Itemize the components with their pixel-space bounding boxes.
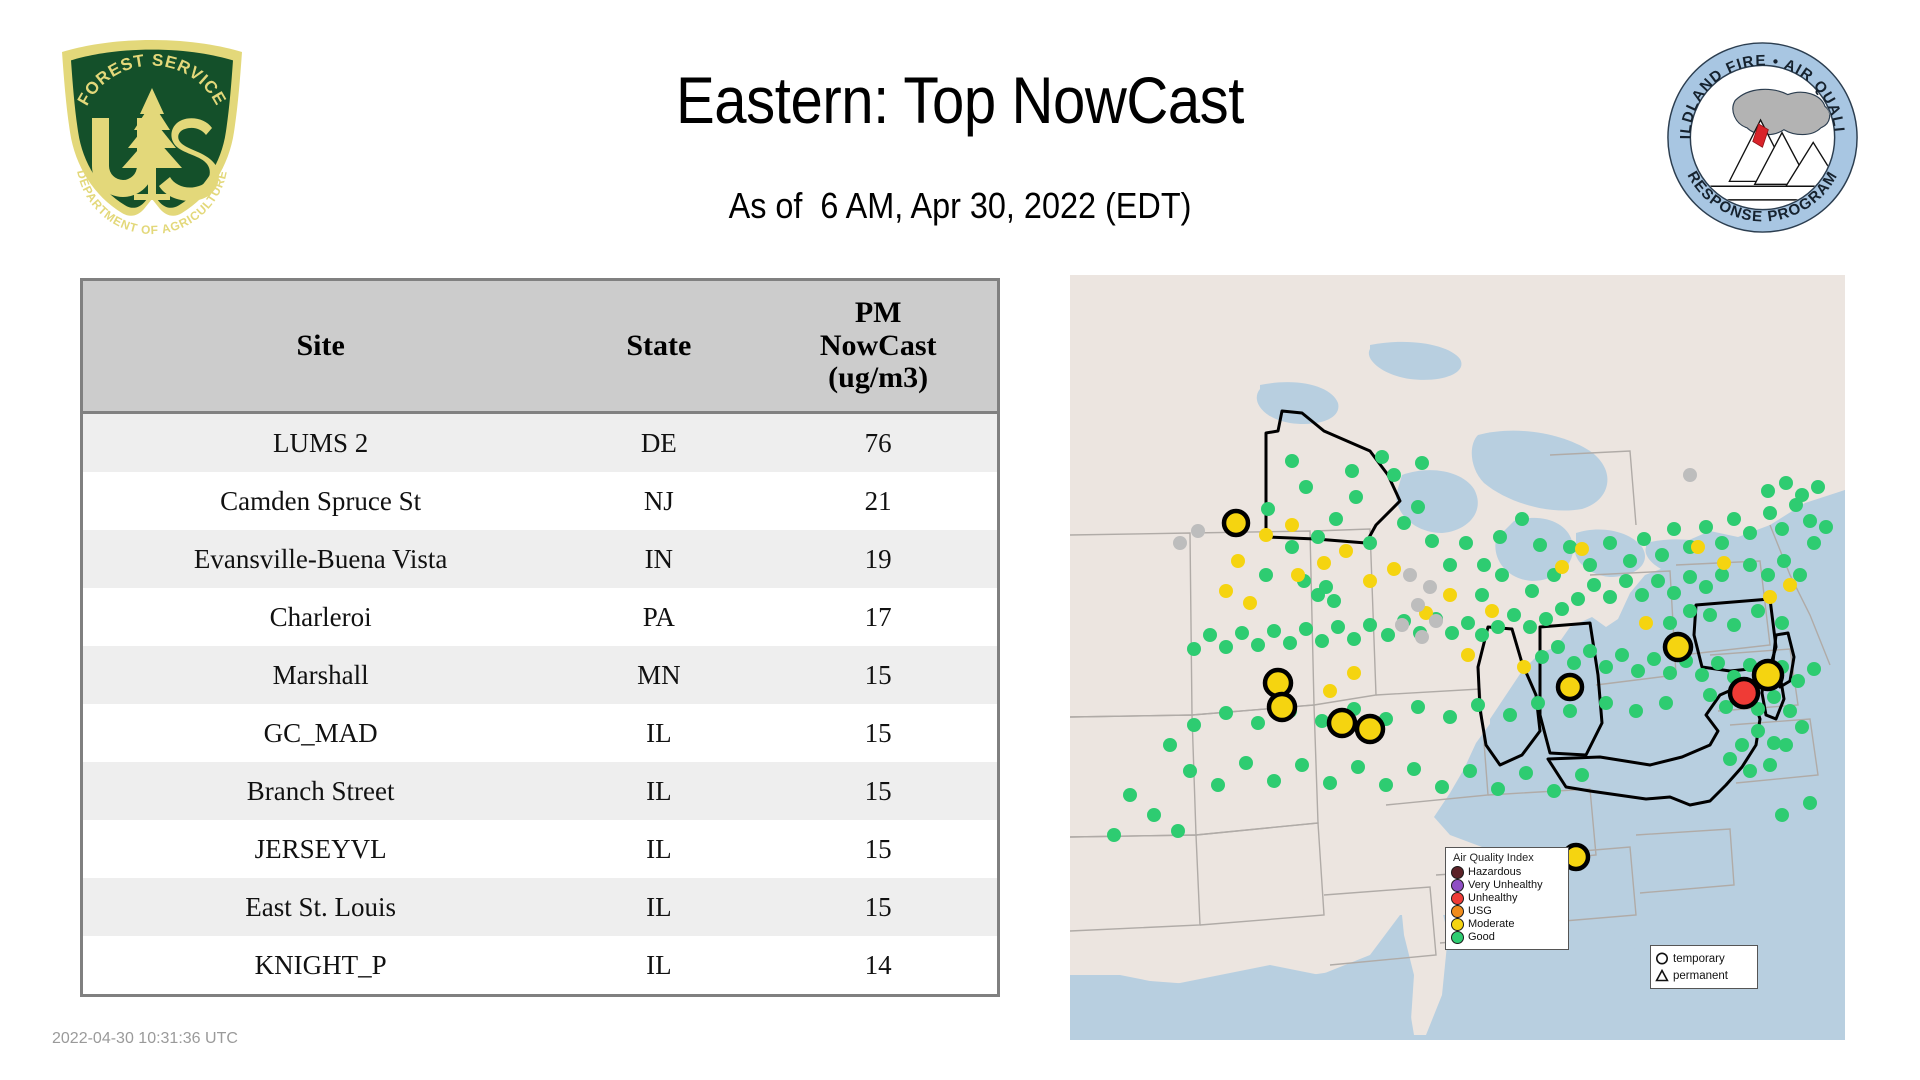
table-row: Evansville-Buena VistaIN19: [83, 530, 997, 588]
cell-pm: 17: [759, 588, 997, 646]
table-row: Branch StreetIL15: [83, 762, 997, 820]
cell-site: Branch Street: [83, 762, 558, 820]
permanent-triangle-icon: [1655, 968, 1669, 983]
cell-pm: 14: [759, 936, 997, 994]
aqi-legend-label: USG: [1468, 905, 1492, 918]
temporary-label: temporary: [1673, 953, 1725, 965]
cell-pm: 76: [759, 413, 997, 473]
cell-state: IL: [558, 878, 759, 936]
cell-pm: 21: [759, 472, 997, 530]
aqi-legend-row: Unhealthy: [1451, 892, 1563, 905]
marker-camden-spruce-st-nj: [1754, 661, 1782, 689]
aqi-legend-label: Very Unhealthy: [1468, 879, 1543, 892]
table-row: LUMS 2DE76: [83, 413, 997, 473]
column-header-state: State: [558, 281, 759, 413]
generation-timestamp: 2022-04-30 10:31:36 UTC: [52, 1030, 238, 1048]
table-row: Camden Spruce StNJ21: [83, 472, 997, 530]
column-header-pm-nowcast: PM NowCast (ug/m3): [759, 281, 997, 413]
cell-pm: 15: [759, 704, 997, 762]
cell-pm: 15: [759, 762, 997, 820]
cell-state: IL: [558, 762, 759, 820]
aqi-legend-label: Hazardous: [1468, 866, 1521, 879]
cell-site: Marshall: [83, 646, 558, 704]
cell-site: JERSEYVL: [83, 820, 558, 878]
aqi-legend-swatch: [1451, 879, 1464, 892]
cell-site: GC_MAD: [83, 704, 558, 762]
marker-lums-2-de: [1730, 679, 1758, 707]
marker-branch-street-il: [1269, 694, 1295, 720]
cell-site: Evansville-Buena Vista: [83, 530, 558, 588]
aqi-legend-label: Good: [1468, 931, 1495, 944]
marker-east-st-louis-il: [1357, 716, 1383, 742]
top-nowcast-table-container: Site State PM NowCast (ug/m3) LUMS 2DE76…: [80, 278, 1000, 997]
cell-site: East St. Louis: [83, 878, 558, 936]
legend-row-permanent: permanent: [1655, 967, 1753, 984]
report-page: FOREST SERVICE DEPARTMENT OF AGRICULTURE: [0, 0, 1920, 1080]
aqi-legend-swatch: [1451, 905, 1464, 918]
cell-pm: 15: [759, 820, 997, 878]
top-nowcast-table: Site State PM NowCast (ug/m3) LUMS 2DE76…: [83, 281, 997, 994]
temporary-circle-icon: [1655, 951, 1669, 966]
cell-state: NJ: [558, 472, 759, 530]
cell-state: IL: [558, 704, 759, 762]
cell-site: Charleroi: [83, 588, 558, 646]
aqi-legend: Air Quality Index HazardousVery Unhealth…: [1445, 847, 1569, 950]
table-row: East St. LouisIL15: [83, 878, 997, 936]
cell-state: IL: [558, 820, 759, 878]
aqi-legend-row: Hazardous: [1451, 866, 1563, 879]
page-subtitle: As of 6 AM, Apr 30, 2022 (EDT): [366, 185, 1554, 227]
cell-state: DE: [558, 413, 759, 473]
table-row: CharleroiPA17: [83, 588, 997, 646]
site-type-legend: temporary permanent: [1650, 945, 1758, 989]
aqi-legend-row: Very Unhealthy: [1451, 879, 1563, 892]
column-header-site: Site: [83, 281, 558, 413]
cell-pm: 19: [759, 530, 997, 588]
pm-header-line-2: NowCast: [759, 330, 997, 362]
aqi-legend-swatch: [1451, 918, 1464, 931]
wildland-fire-air-quality-response-program-icon: WILDLAND FIRE • AIR QUALITY RESPONSE PRO…: [1665, 40, 1860, 235]
aqi-legend-swatch: [1451, 866, 1464, 879]
pm-header-line-1: PM: [759, 297, 997, 329]
table-row: JERSEYVLIL15: [83, 820, 997, 878]
cell-site: LUMS 2: [83, 413, 558, 473]
cell-state: IL: [558, 936, 759, 994]
table-row: KNIGHT_PIL14: [83, 936, 997, 994]
marker-gc-mad-il: [1265, 670, 1291, 696]
legend-row-temporary: temporary: [1655, 950, 1753, 967]
aqi-legend-swatch: [1451, 931, 1464, 944]
aqi-legend-row: Good: [1451, 931, 1563, 944]
marker-marshall-mn: [1224, 511, 1248, 535]
cell-site: KNIGHT_P: [83, 936, 558, 994]
pm-header-line-3: (ug/m3): [759, 362, 997, 394]
permanent-label: permanent: [1673, 970, 1728, 982]
aqi-legend-label: Moderate: [1468, 918, 1514, 931]
aqi-legend-row: Moderate: [1451, 918, 1563, 931]
aqi-legend-swatch: [1451, 892, 1464, 905]
cell-site: Camden Spruce St: [83, 472, 558, 530]
cell-state: PA: [558, 588, 759, 646]
table-head: Site State PM NowCast (ug/m3): [83, 281, 997, 413]
cell-state: IN: [558, 530, 759, 588]
marker-jerseyvl-il: [1329, 710, 1355, 736]
cell-pm: 15: [759, 878, 997, 936]
aqi-legend-label: Unhealthy: [1468, 892, 1518, 905]
aqi-legend-title: Air Quality Index: [1451, 852, 1563, 864]
page-title: Eastern: Top NowCast: [379, 62, 1541, 138]
forest-service-shield-icon: FOREST SERVICE DEPARTMENT OF AGRICULTURE: [52, 36, 252, 236]
aqi-legend-items: HazardousVery UnhealthyUnhealthyUSGModer…: [1451, 866, 1563, 944]
table-header-row: Site State PM NowCast (ug/m3): [83, 281, 997, 413]
table-row: MarshallMN15: [83, 646, 997, 704]
aqi-legend-row: USG: [1451, 905, 1563, 918]
marker-evansville-in: [1558, 675, 1582, 699]
cell-state: MN: [558, 646, 759, 704]
air-quality-map[interactable]: Air Quality Index HazardousVery Unhealth…: [1070, 275, 1845, 1040]
marker-charleroi-pa: [1665, 634, 1691, 660]
table-body: LUMS 2DE76Camden Spruce StNJ21Evansville…: [83, 413, 997, 995]
table-row: GC_MADIL15: [83, 704, 997, 762]
cell-pm: 15: [759, 646, 997, 704]
